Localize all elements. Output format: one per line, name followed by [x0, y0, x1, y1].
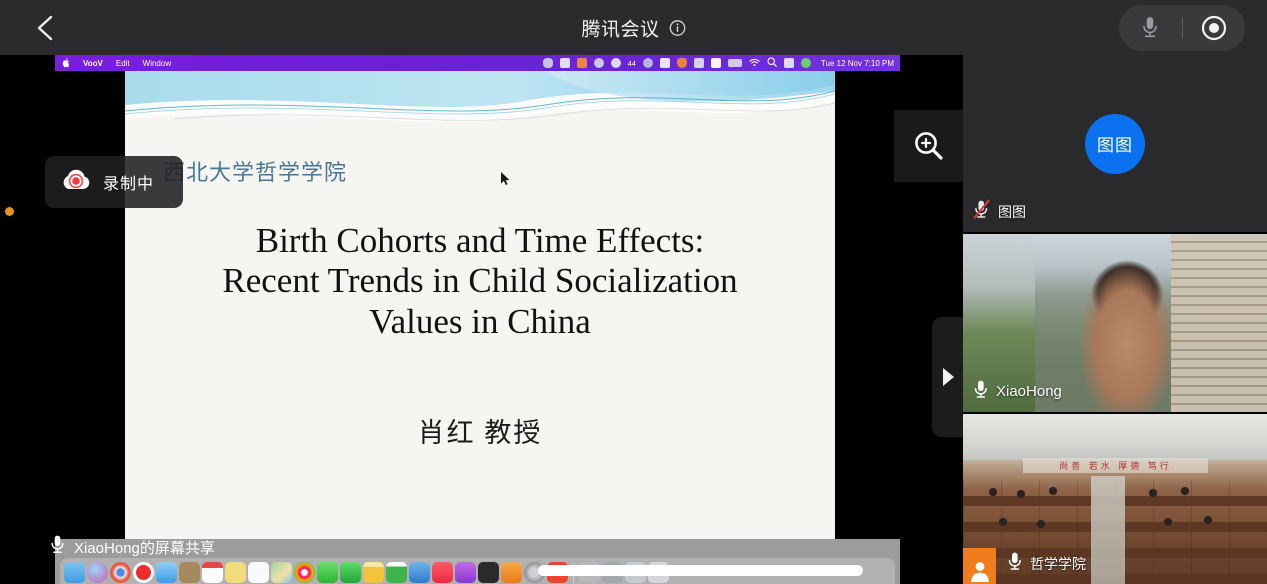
microphone-icon — [50, 534, 65, 560]
room-banner-text: 尚善 若水 厚德 笃行 — [1023, 458, 1208, 473]
meeting-app-window: 腾讯会议 — [0, 0, 1267, 584]
bartender-icon[interactable] — [560, 58, 570, 68]
microphone-icon — [973, 379, 989, 404]
dock-podcasts-icon[interactable] — [455, 562, 476, 583]
recording-label: 录制中 — [103, 170, 154, 194]
shared-screen-stage[interactable]: VooV Edit Window 44 — [0, 55, 963, 584]
participant-tile-philosophy-school[interactable]: 尚善 若水 厚德 笃行 — [963, 414, 1267, 584]
header-title-group: 腾讯会议 — [0, 14, 1267, 41]
page-title: 腾讯会议 — [581, 14, 659, 41]
dock-reminders-icon[interactable] — [248, 562, 269, 583]
display-icon[interactable] — [694, 58, 704, 68]
zoom-in-magnifier-icon — [911, 128, 947, 164]
dock-notes-icon[interactable] — [363, 562, 384, 583]
menubar-item-window[interactable]: Window — [143, 59, 171, 68]
slide-title-line-1: Birth Cohorts and Time Effects: — [145, 221, 815, 261]
menubar-left-group: VooV Edit Window — [61, 57, 171, 70]
dock-photos-icon[interactable] — [294, 562, 315, 583]
recording-badge: 录制中 — [45, 156, 183, 208]
screenshot-icon[interactable] — [543, 58, 553, 68]
slide-school-name: 西北大学哲学学院 — [163, 155, 347, 187]
dock-facetime-icon[interactable] — [340, 562, 361, 583]
dock-redacted-bar — [538, 565, 863, 576]
spotlight-search-icon[interactable] — [767, 57, 777, 69]
dock-mail-icon[interactable] — [156, 562, 177, 583]
dock-keynote-icon[interactable] — [409, 562, 430, 583]
status-dot — [5, 207, 14, 216]
dock-finder-icon[interactable] — [64, 562, 85, 583]
globe-icon[interactable] — [643, 58, 653, 68]
battery-icon[interactable] — [728, 59, 742, 67]
avatar: 图图 — [1085, 114, 1145, 174]
presentation-slide: 西北大学哲学学院 Birth Cohorts and Time Effects:… — [125, 71, 835, 539]
mic-button[interactable] — [1119, 5, 1182, 51]
at-icon[interactable] — [594, 58, 604, 68]
dock-calendar-icon[interactable] — [202, 562, 223, 583]
zoom-in-button[interactable] — [894, 110, 963, 182]
input-source-icon[interactable] — [711, 58, 721, 68]
dock-numbers-icon[interactable] — [386, 562, 407, 583]
siri-icon[interactable] — [801, 58, 811, 68]
menubar-item-edit[interactable]: Edit — [116, 59, 130, 68]
menubar-status-group: 44 — [543, 57, 894, 69]
dock-books-icon[interactable] — [501, 562, 522, 583]
dock-chrome-icon[interactable] — [110, 562, 131, 583]
tile-footer: 图图 — [973, 199, 1026, 224]
participant-name: XiaoHong — [996, 383, 1062, 400]
app-header: 腾讯会议 — [0, 0, 1267, 55]
menubar-clock[interactable]: Tue 12 Nov 7:10 PM — [821, 59, 894, 68]
shield-icon[interactable] — [677, 58, 687, 68]
participant-tile-tutu[interactable]: 图图 图图 — [963, 55, 1267, 232]
room-ceiling — [963, 414, 1267, 460]
mac-dock[interactable] — [60, 558, 895, 584]
binoculars-icon[interactable] — [660, 58, 670, 68]
control-center-icon[interactable] — [784, 58, 794, 68]
participant-tile-xiaohong[interactable]: XiaoHong — [963, 234, 1267, 411]
cloud-record-icon — [59, 167, 93, 197]
info-circle-icon[interactable] — [669, 19, 686, 36]
host-person-icon — [963, 548, 996, 584]
slide-title: Birth Cohorts and Time Effects: Recent T… — [125, 221, 835, 342]
dock-maps-icon[interactable] — [271, 562, 292, 583]
participant-name: 图图 — [998, 202, 1026, 222]
dock-folder-icon[interactable] — [179, 562, 200, 583]
dock-siri-icon[interactable] — [87, 562, 108, 583]
microphone-icon — [1007, 551, 1023, 576]
menubar-item-voov[interactable]: VooV — [83, 59, 103, 68]
record-camera-icon — [1200, 14, 1228, 42]
video-background-right — [1171, 234, 1267, 411]
wechat-icon[interactable] — [611, 58, 621, 68]
triangle-right-icon — [940, 367, 956, 387]
shared-desktop: VooV Edit Window 44 — [55, 55, 900, 584]
wifi-icon[interactable] — [749, 58, 760, 69]
presenter-share-label: XiaoHong的屏幕共享 — [50, 534, 215, 560]
slide-decoration-wave — [125, 71, 835, 151]
todo-icon[interactable] — [577, 58, 587, 68]
slide-title-line-2: Recent Trends in Child Socialization — [145, 261, 815, 301]
dock-messages-icon[interactable] — [317, 562, 338, 583]
participant-sidebar: 图图 图图 — [963, 55, 1267, 584]
microphone-muted-icon — [973, 199, 991, 224]
dock-stickies-icon[interactable] — [225, 562, 246, 583]
microphone-icon — [1140, 14, 1160, 42]
apple-logo-icon[interactable] — [61, 57, 70, 70]
dock-music-icon[interactable] — [432, 562, 453, 583]
tile-footer: XiaoHong — [973, 379, 1062, 404]
dock-opera-icon[interactable] — [133, 562, 154, 583]
menubar-badge-count: 44 — [628, 59, 636, 68]
back-button[interactable] — [26, 8, 66, 48]
mouse-cursor-icon — [500, 171, 511, 192]
header-controls — [1119, 5, 1245, 51]
tile-footer: 哲学学院 — [1007, 551, 1086, 576]
dock-appletv-icon[interactable] — [478, 562, 499, 583]
slide-author: 肖红 教授 — [125, 411, 835, 450]
collapse-panel-button[interactable] — [932, 317, 963, 437]
presenter-name: XiaoHong的屏幕共享 — [74, 537, 215, 558]
camera-record-button[interactable] — [1183, 5, 1246, 51]
mac-menubar: VooV Edit Window 44 — [55, 55, 900, 71]
chevron-left-icon — [34, 13, 58, 43]
slide-title-line-3: Values in China — [145, 302, 815, 342]
participant-name: 哲学学院 — [1030, 554, 1086, 574]
